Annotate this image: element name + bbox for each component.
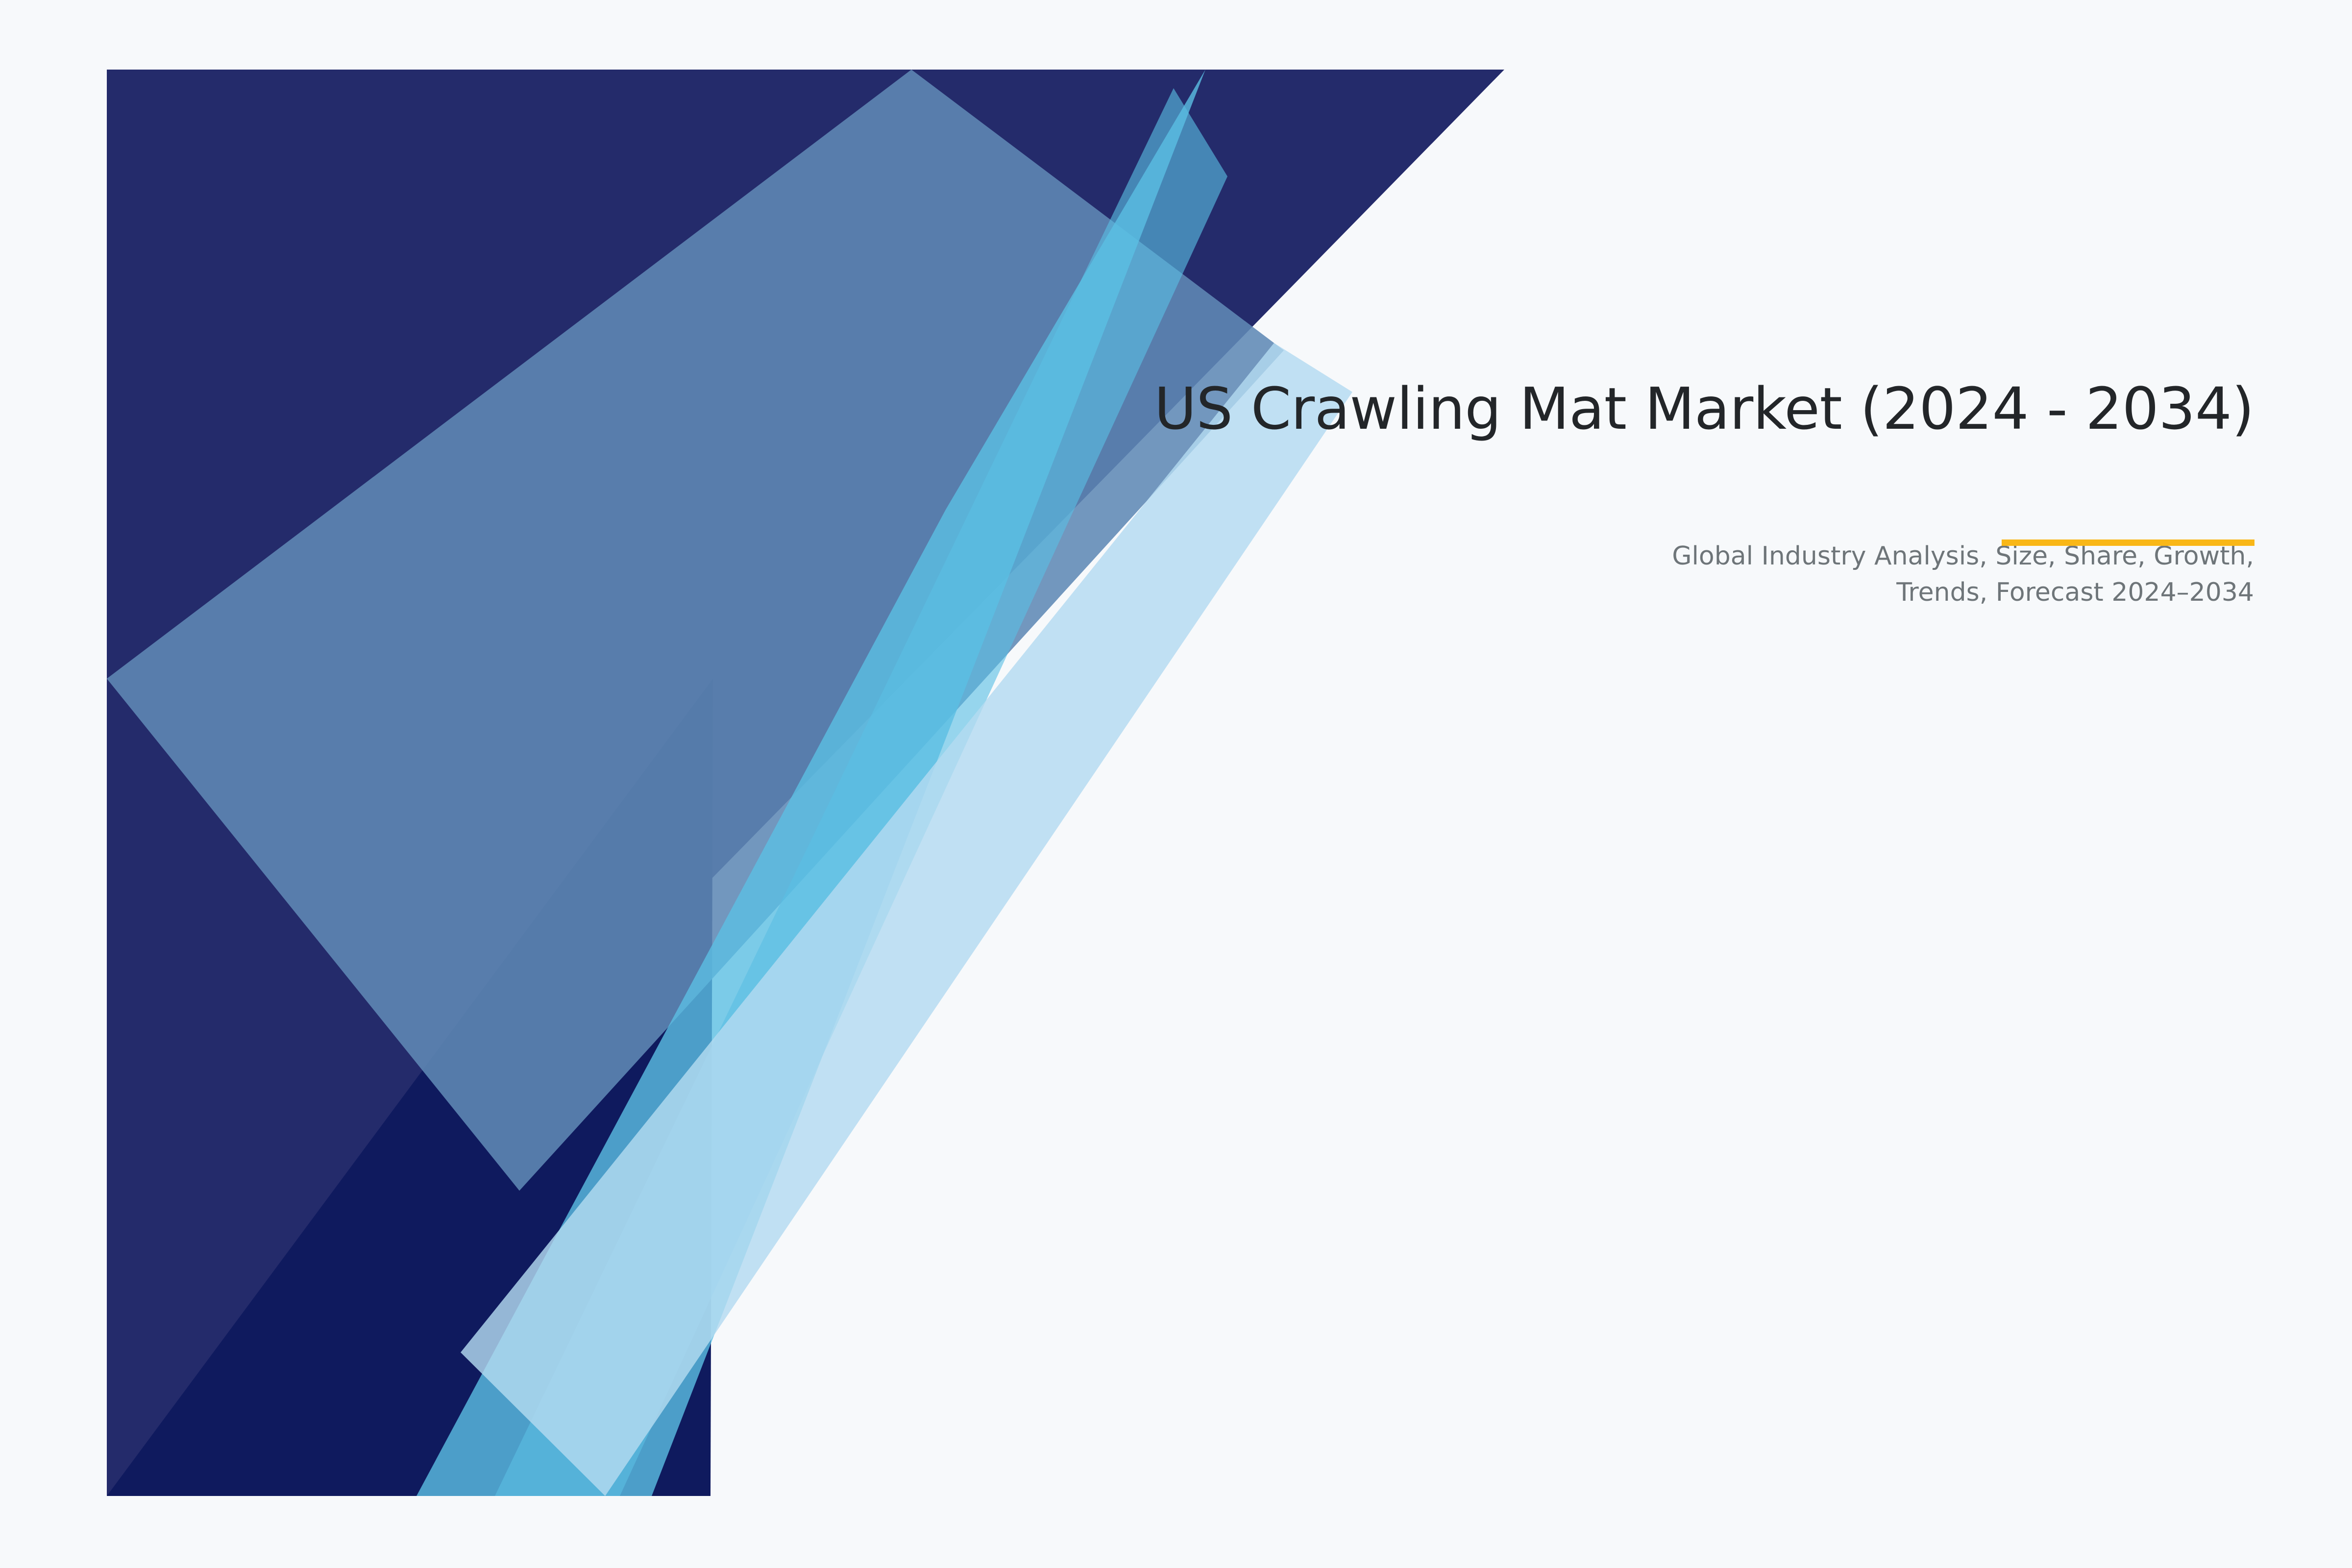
cover-text-block: US Crawling Mat Market (2024 - 2034) Glo… bbox=[1009, 372, 2254, 611]
slate-blue-sheet bbox=[107, 70, 1284, 1191]
abstract-polygon-collage bbox=[0, 0, 2352, 1568]
bright-blue-field bbox=[107, 70, 911, 1127]
page-title: US Crawling Mat Market (2024 - 2034) bbox=[1009, 372, 2254, 445]
sky-blue-wedge bbox=[495, 88, 1227, 1496]
navy-wedge-upper bbox=[107, 70, 1504, 1496]
page-subtitle: Global Industry Analysis, Size, Share, G… bbox=[1617, 539, 2254, 611]
sky-blue-band bbox=[416, 70, 1205, 1496]
title-underline-accent bbox=[2002, 539, 2254, 546]
report-cover: US Crawling Mat Market (2024 - 2034) Glo… bbox=[0, 0, 2352, 1568]
deep-navy-spike bbox=[107, 679, 713, 1496]
